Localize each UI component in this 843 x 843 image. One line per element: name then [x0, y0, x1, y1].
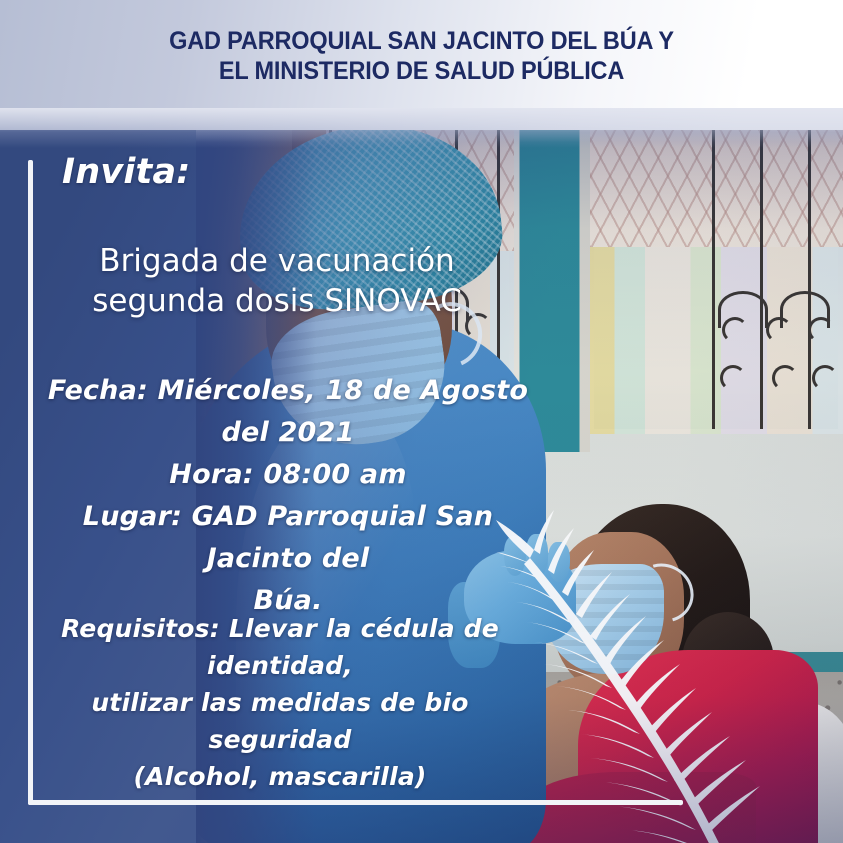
requirement-line-2: utilizar las medidas de bio seguridad — [30, 684, 530, 758]
detail-lugar-line-1: Lugar: GAD Parroquial San Jacinto del — [28, 496, 548, 580]
header-background-fade — [0, 108, 843, 148]
header-line-1: GAD PARROQUIAL SAN JACINTO DEL BÚA Y — [25, 26, 817, 56]
requirements-text: Requisitos: Llevar la cédula de identida… — [30, 610, 530, 795]
poster: GAD PARROQUIAL SAN JACINTO DEL BÚA Y EL … — [0, 0, 843, 843]
requirement-line-3: (Alcohol, mascarilla) — [30, 758, 530, 795]
frame-bottom-line — [28, 800, 683, 805]
detail-fecha: Fecha: Miércoles, 18 de Agosto del 2021 — [28, 370, 548, 454]
event-details: Fecha: Miércoles, 18 de Agosto del 2021 … — [28, 370, 548, 622]
page-title: GAD PARROQUIAL SAN JACINTO DEL BÚA Y EL … — [25, 26, 817, 86]
requirement-line-1: Requisitos: Llevar la cédula de identida… — [30, 610, 530, 684]
header-line-2: EL MINISTERIO DE SALUD PÚBLICA — [25, 56, 817, 86]
invita-label: Invita: — [62, 152, 191, 192]
announcement-line-2: dosis SINOVAC — [235, 283, 462, 319]
announcement-text: Brigada de vacunación segunda dosis SINO… — [33, 241, 521, 321]
detail-hora: Hora: 08:00 am — [28, 454, 548, 496]
